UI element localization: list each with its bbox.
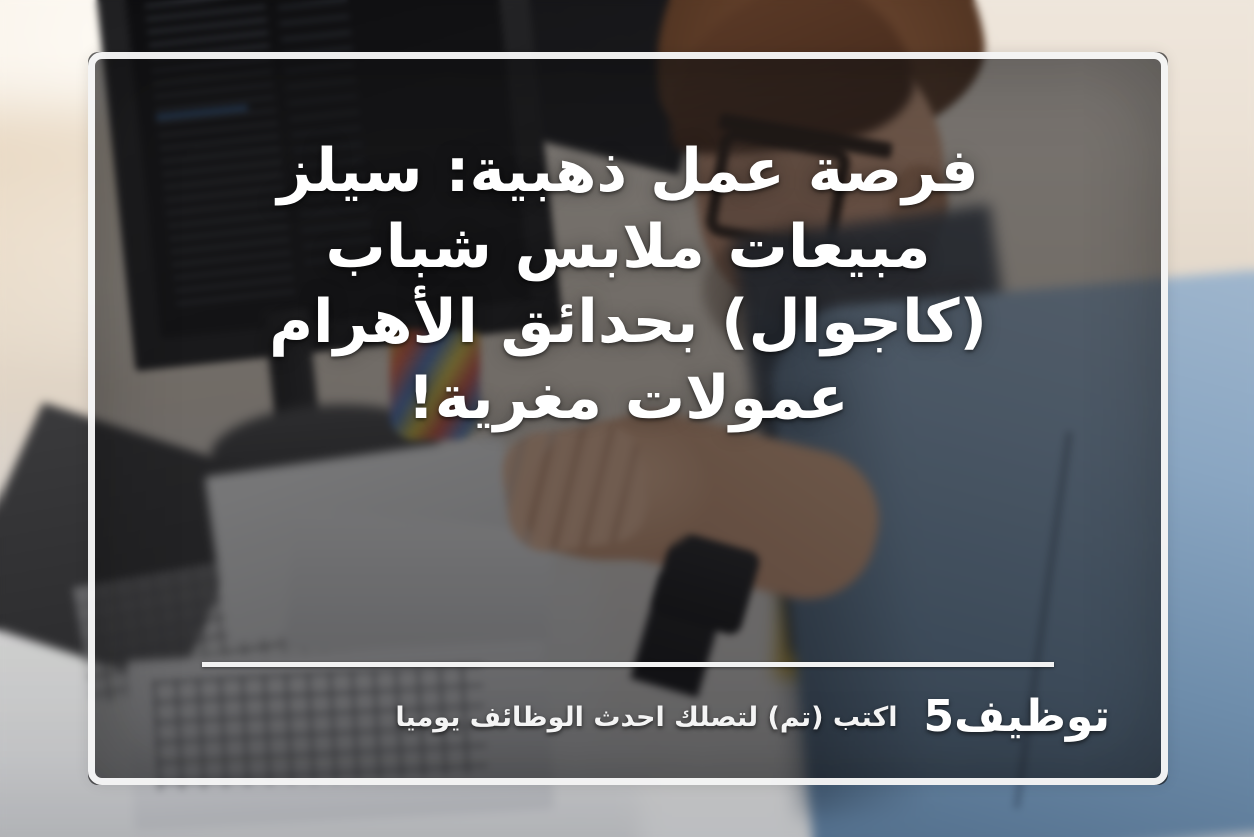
card-content: فرصة عمل ذهبية: سيلز مبيعات ملابس شباب (… [110,70,1146,767]
brand-logo: توظيف5 [923,695,1110,739]
headline-line-2: مبيعات ملابس شباب [326,212,931,282]
headline-line-4: عمولات مغرية! [407,363,848,433]
brand-number: 5 [923,691,954,742]
horizontal-divider [202,662,1054,667]
job-ad-card: فرصة عمل ذهبية: سيلز مبيعات ملابس شباب (… [0,0,1254,837]
page-title: فرصة عمل ذهبية: سيلز مبيعات ملابس شباب (… [148,134,1108,436]
brand-word: توظيف [954,691,1110,742]
divider-container [110,662,1146,667]
headline-line-1: فرصة عمل ذهبية: سيلز [277,136,978,206]
footer-bar: توظيف5 اكتب (تم) لتصلك احدث الوظائف يومي… [128,682,1128,752]
headline-line-3: (كاجوال) بحدائق الأهرام [269,287,987,357]
footer-tagline: اكتب (تم) لتصلك احدث الوظائف يوميا [395,704,897,731]
